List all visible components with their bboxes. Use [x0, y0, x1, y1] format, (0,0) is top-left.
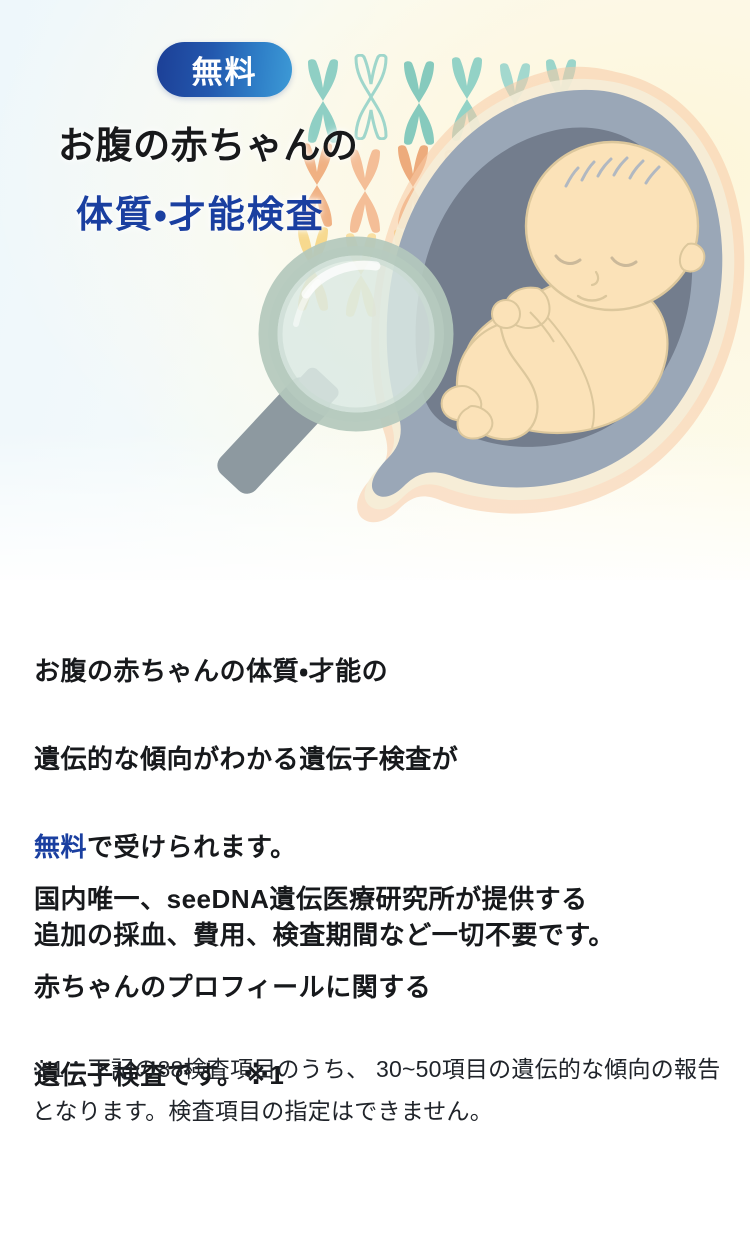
lead-line-1: お腹の赤ちゃんの体質・才能の	[34, 649, 724, 693]
second-line-1: 国内唯一、seeDNA遺伝医療研究所が提供する	[34, 877, 734, 921]
free-badge: 無料	[157, 42, 292, 97]
lead-line-2: 遺伝的な傾向がわかる遺伝子検査が	[34, 737, 724, 781]
magnifying-glass-icon	[170, 228, 500, 518]
hero-title-line-1: お腹の赤ちゃんの	[58, 115, 358, 169]
footnote-text: ※1：下記の88検査項目のうち、 30~50項目の遺伝的な傾向の報告となります。…	[32, 1048, 724, 1132]
second-line-2: 赤ちゃんのプロフィールに関する	[34, 965, 734, 1009]
hero-section: 無料 お腹の赤ちゃんの 体質・才能検査	[0, 0, 750, 580]
landing-page: 無料 お腹の赤ちゃんの 体質・才能検査 お腹の赤ちゃんの体質・才能の 遺伝的な傾…	[0, 0, 750, 1252]
hero-title-line-2: 体質・才能検査	[76, 184, 325, 238]
